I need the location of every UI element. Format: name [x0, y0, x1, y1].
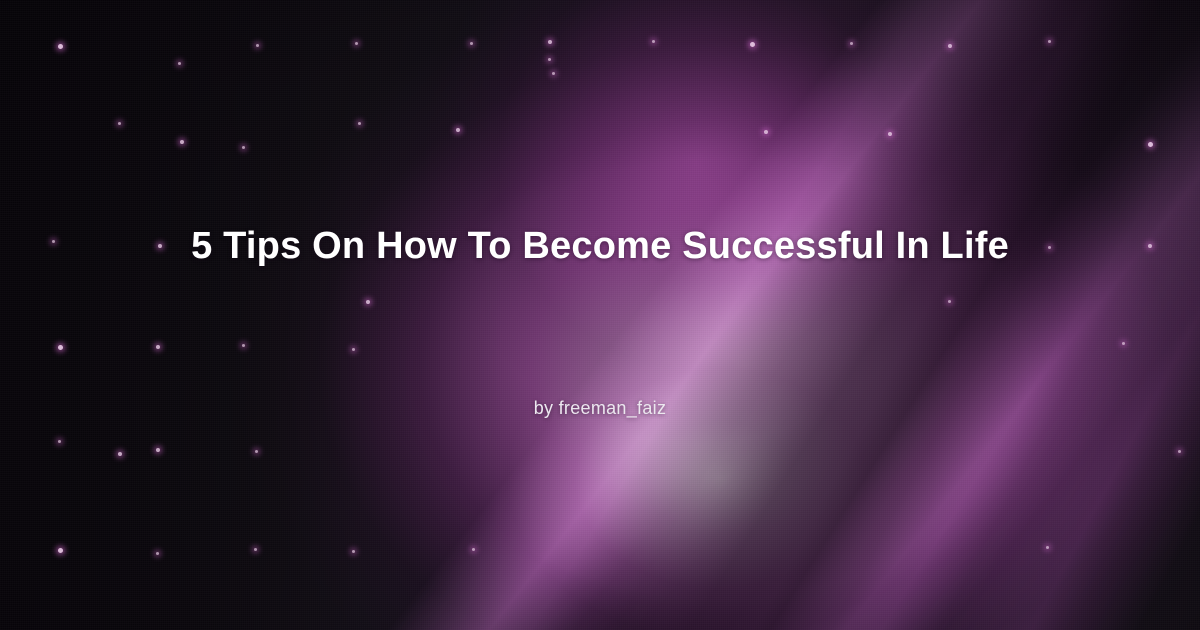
card-content: 5 Tips On How To Become Successful In Li… — [0, 0, 1200, 630]
author-byline: by freeman_faiz — [0, 398, 1200, 419]
page-title: 5 Tips On How To Become Successful In Li… — [0, 223, 1200, 269]
share-card: 5 Tips On How To Become Successful In Li… — [0, 0, 1200, 630]
